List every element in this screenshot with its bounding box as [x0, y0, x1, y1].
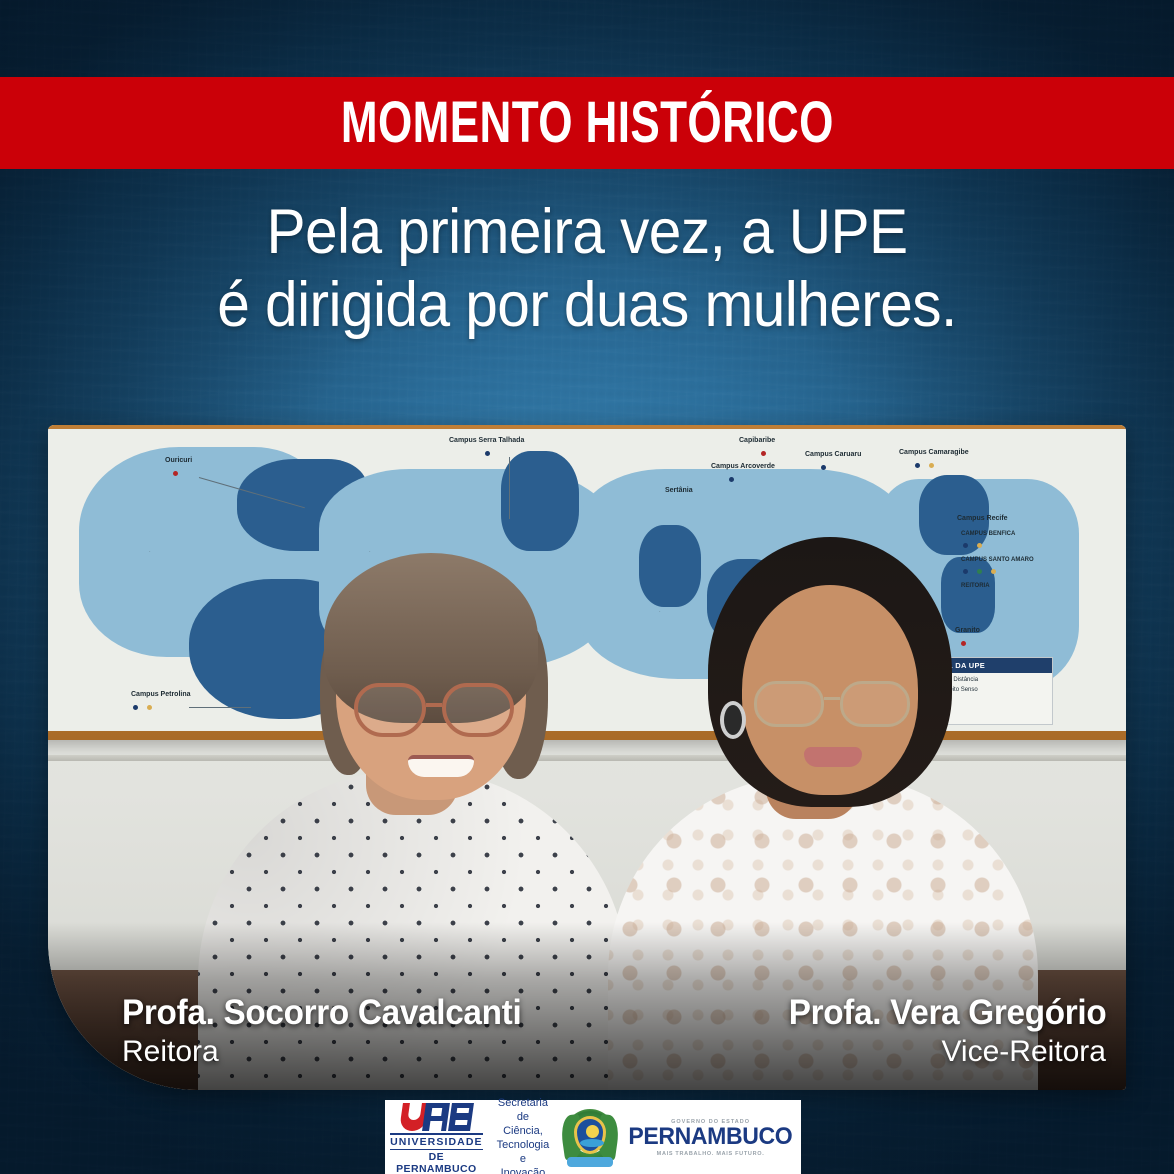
wall-trim	[48, 755, 1126, 761]
map-land-arcoverde	[639, 525, 701, 607]
map-label-granito: Granito	[955, 627, 980, 634]
map-municipality-label: ·	[369, 549, 371, 555]
person-name: Profa. Vera Gregório	[788, 994, 1106, 1032]
map-dot-gold	[977, 543, 982, 548]
government-tagline: MAIS TRABALHO. MAIS FUTURO.	[625, 1151, 796, 1157]
headline-line-1: Pela primeira vez, a UPE	[41, 196, 1133, 269]
poster-canvas: MOMENTO HISTÓRICO Pela primeira vez, a U…	[0, 0, 1174, 1174]
ribbon	[567, 1157, 613, 1167]
map-land-serra-talhada	[501, 451, 579, 551]
map-dot-gold	[929, 463, 934, 468]
government-logo: GOVERNO DO ESTADO PERNAMBUCO MAIS TRABAL…	[563, 1109, 796, 1167]
smile	[804, 747, 862, 767]
map-dot-navy	[915, 463, 920, 468]
upe-fullname: UNIVERSIDADE DE PERNAMBUCO	[390, 1133, 483, 1174]
upe-letter-p	[422, 1103, 450, 1131]
secretaria-line-1: Secretaria de	[497, 1096, 550, 1124]
lens-left	[754, 681, 824, 727]
map-label-campus-serra-talhada: Campus Serra Talhada	[449, 437, 524, 444]
footer-logo-bar: UNIVERSIDADE DE PERNAMBUCO Secretaria de…	[385, 1100, 801, 1174]
map-label-capibaribe: Capibaribe	[739, 437, 775, 444]
caption-right: Profa. Vera Gregório Vice-Reitora	[772, 994, 1106, 1070]
map-label-campus-camaragibe: Campus Camaragibe	[899, 449, 969, 456]
secretaria-line-2: Ciência, Tecnologia	[497, 1124, 550, 1152]
map-land-recife	[941, 557, 995, 633]
wave-icon	[580, 1139, 604, 1147]
secretaria-line-3: e Inovação	[497, 1152, 550, 1174]
map-label-campus-santo-amaro: CAMPUS SANTO AMARO	[961, 557, 1034, 563]
map-label-campus-arcoverde: Campus Arcoverde	[711, 463, 775, 470]
headline-line-2: é dirigida por duas mulheres.	[41, 269, 1133, 342]
map-municipality-label: ·	[149, 549, 151, 555]
upe-line-1: UNIVERSIDADE	[390, 1133, 483, 1150]
upe-letter-e	[448, 1103, 474, 1131]
map-label-reitoria: REITORIA	[961, 583, 990, 589]
lens-right	[442, 683, 514, 737]
sun-icon	[586, 1125, 599, 1138]
map-dot-red	[961, 641, 966, 646]
person-role: Reitora	[122, 1034, 542, 1070]
map-municipality-label: ·	[659, 609, 661, 615]
map-leader-line	[509, 457, 510, 519]
map-label-campus-petrolina: Campus Petrolina	[131, 691, 191, 698]
government-wordmark: GOVERNO DO ESTADO PERNAMBUCO MAIS TRABAL…	[625, 1119, 796, 1157]
map-leader-line	[189, 707, 251, 708]
upe-logo: UNIVERSIDADE DE PERNAMBUCO	[390, 1101, 483, 1174]
government-main-line: PERNAMBUCO	[629, 1125, 793, 1149]
earring	[720, 701, 746, 739]
glasses-bridge	[824, 697, 840, 700]
map-dot-navy	[963, 543, 968, 548]
map-dot-navy	[133, 705, 138, 710]
map-frame: · · · Campus Petrolina Ouricuri Campus S…	[48, 425, 1126, 740]
lens-left	[354, 683, 426, 737]
map-label-campus-recife: Campus Recife	[957, 515, 1008, 522]
photo-scene: · · · Campus Petrolina Ouricuri Campus S…	[48, 425, 1126, 1090]
map-dot-navy	[821, 465, 826, 470]
map-dot-navy	[963, 569, 968, 574]
person-role: Vice-Reitora	[772, 1034, 1106, 1070]
pernambuco-coat-of-arms-icon	[563, 1109, 617, 1167]
map-label-ouricuri: Ouricuri	[165, 457, 192, 464]
person-name: Profa. Socorro Cavalcanti	[122, 994, 521, 1032]
map-dot-green	[977, 569, 982, 574]
photo-card: · · · Campus Petrolina Ouricuri Campus S…	[48, 425, 1126, 1090]
map-dot-gold	[991, 569, 996, 574]
smile	[408, 755, 474, 777]
glasses-bridge	[426, 703, 442, 707]
banner-label: MOMENTO HISTÓRICO	[341, 94, 834, 152]
map-label-campus-benfica: CAMPUS BENFICA	[961, 531, 1015, 537]
upe-line-2: DE PERNAMBUCO	[390, 1150, 483, 1174]
map-label-sertania: Sertânia	[665, 487, 693, 494]
map-dot-red	[761, 451, 766, 456]
map-dot-red	[173, 471, 178, 476]
page-title: Pela primeira vez, a UPE é dirigida por …	[41, 196, 1133, 342]
upe-wordmark-icon	[401, 1101, 472, 1131]
map-dot-navy	[729, 477, 734, 482]
map-dot-gold	[147, 705, 152, 710]
lens-right	[840, 681, 910, 727]
headline-banner: MOMENTO HISTÓRICO	[0, 77, 1174, 169]
caption-left: Profa. Socorro Cavalcanti Reitora	[122, 994, 542, 1070]
map-dot-navy	[485, 451, 490, 456]
map-label-campus-caruaru: Campus Caruaru	[805, 451, 861, 458]
regional-map: · · · Campus Petrolina Ouricuri Campus S…	[48, 429, 1126, 731]
secretaria-logo: Secretaria de Ciência, Tecnologia e Inov…	[497, 1096, 550, 1174]
